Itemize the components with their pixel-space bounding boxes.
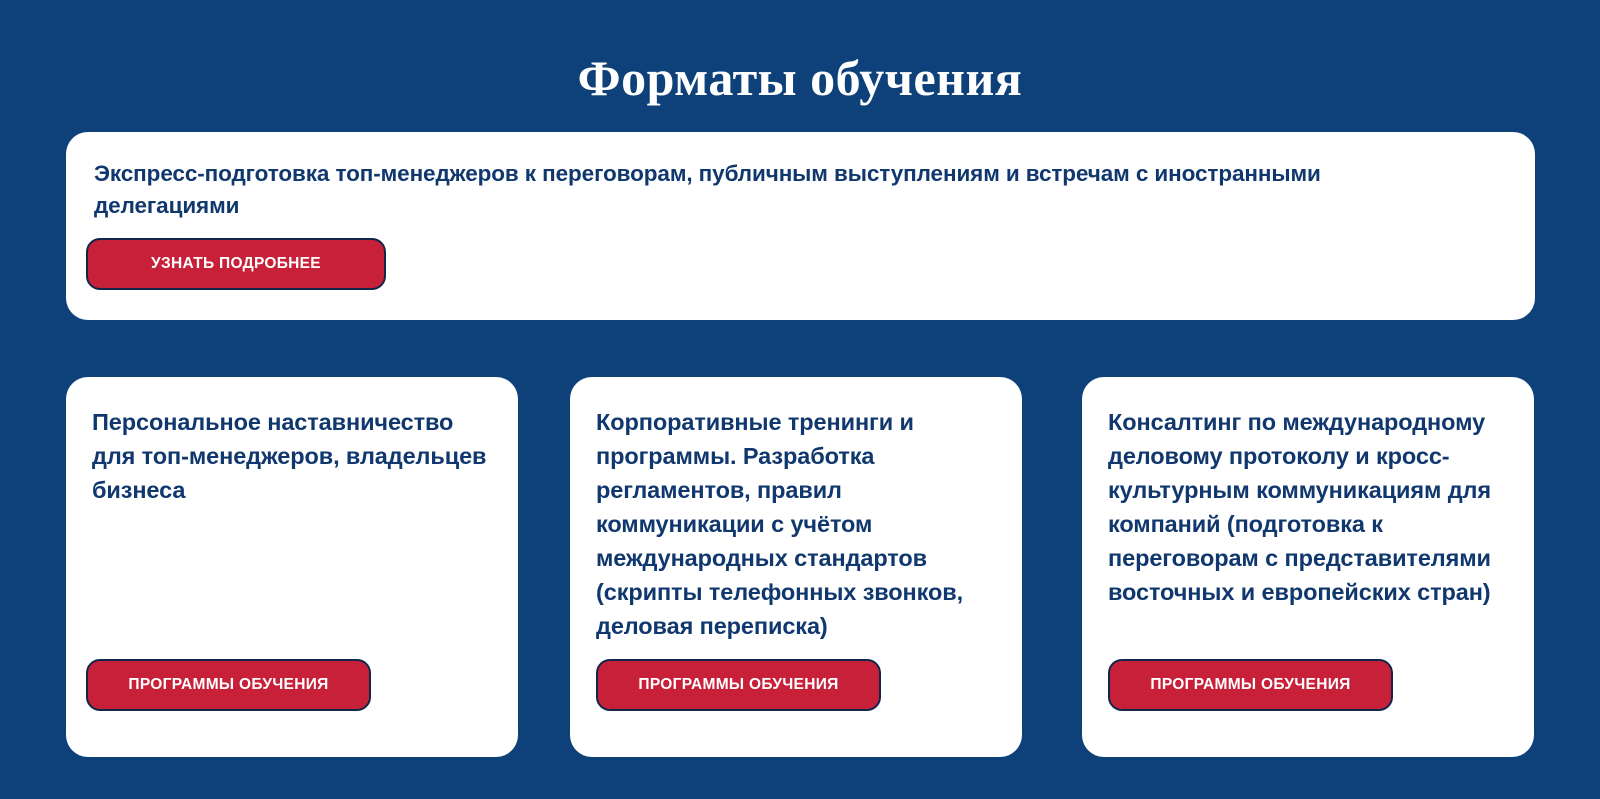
training-programs-button-3[interactable]: Программы обучения (1108, 659, 1393, 711)
program-card-description: Корпоративные тренинги и программы. Разр… (596, 405, 996, 643)
featured-card: Экспресс-подготовка топ-менеджеров к пер… (66, 132, 1535, 320)
program-card-description: Консалтинг по международному деловому пр… (1108, 405, 1508, 609)
training-programs-button-1[interactable]: Программы обучения (86, 659, 371, 711)
program-card-description: Персональное наставничество для топ-мене… (92, 405, 492, 507)
training-formats-section: Форматы обучения Экспресс-подготовка топ… (0, 0, 1600, 799)
featured-card-description: Экспресс-подготовка топ-менеджеров к пер… (94, 158, 1439, 222)
learn-more-button[interactable]: Узнать подробнее (86, 238, 386, 290)
training-programs-button-2[interactable]: Программы обучения (596, 659, 881, 711)
page-title: Форматы обучения (0, 48, 1600, 108)
